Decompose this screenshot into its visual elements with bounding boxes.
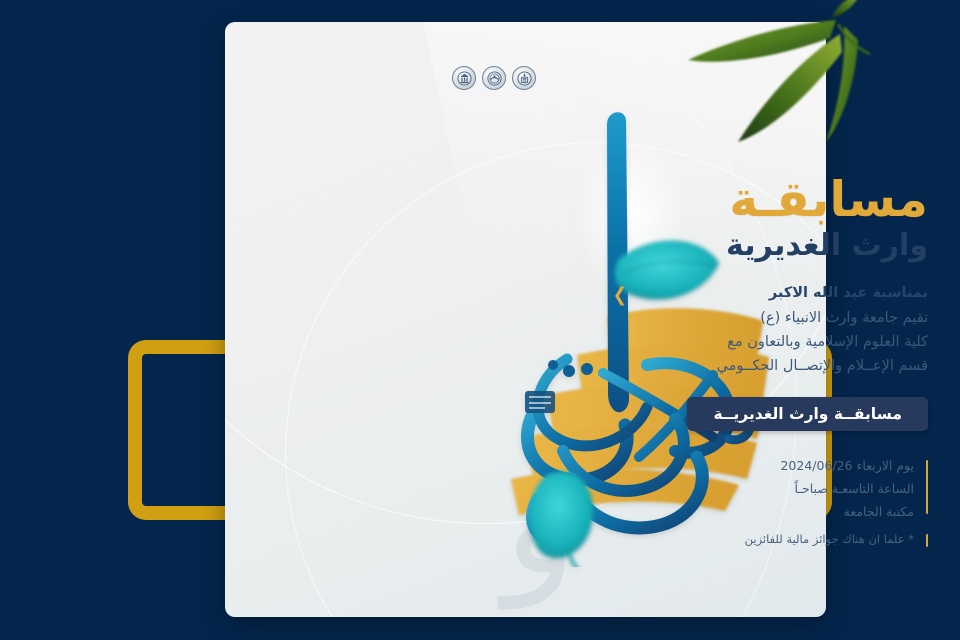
event-name-badge: مسابقــة وارث الغديريــة xyxy=(687,397,928,431)
event-details: يوم الاربعاء 2024/06/26 الساعة التاسعـة … xyxy=(628,457,928,521)
description-block: ❯ بمناسبة عيد الله الاكبر تقيم جامعة وار… xyxy=(628,284,928,378)
gold-frame-left xyxy=(128,340,238,520)
university-seal-logo-1 xyxy=(512,66,536,90)
organizer-line-2: كلية العلوم الإسلامية وبالتعاون مع xyxy=(628,332,928,353)
prize-note: * علما ان هناك جوائز مالية للفائزين xyxy=(628,531,928,547)
chevron-accent-icon: ❯ xyxy=(613,286,627,305)
prize-note-text: * علما ان هناك جوائز مالية للفائزين xyxy=(628,531,914,547)
page-subtitle: وارث الغديرية xyxy=(628,230,928,262)
page-title: مسابقـة xyxy=(628,175,928,224)
organizer-line-3: قسم الإعــلام والإتصــال الحكــومي xyxy=(628,356,928,377)
poster-text-content: مسابقـة وارث الغديرية ❯ بمناسبة عيد الله… xyxy=(628,175,928,547)
event-date: يوم الاربعاء 2024/06/26 xyxy=(628,457,914,476)
occasion-line: بمناسبة عيد الله الاكبر xyxy=(628,284,928,304)
event-time: الساعة التاسعـة صباحـاً xyxy=(628,480,914,499)
event-location: مكتبة الجامعة xyxy=(628,503,914,522)
logo-row xyxy=(452,66,536,90)
college-seal-logo-2 xyxy=(482,66,506,90)
department-seal-logo-3 xyxy=(452,66,476,90)
organizer-line-1: تقيم جامعة وارث الانبياء (ع) xyxy=(628,308,928,329)
